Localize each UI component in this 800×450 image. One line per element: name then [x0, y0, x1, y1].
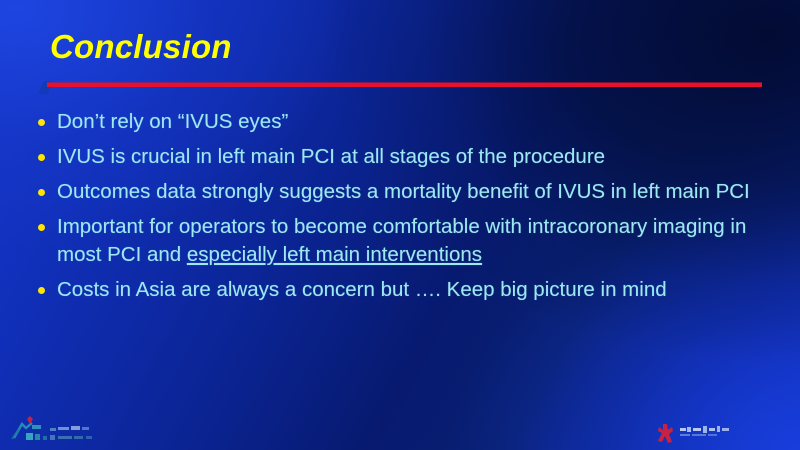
title-divider-rule	[38, 78, 762, 94]
bullet-point-icon	[38, 143, 57, 161]
bullet-point-icon	[38, 213, 57, 231]
list-item: Don’t rely on “IVUS eyes”	[38, 108, 768, 136]
emphasis-underlined-text: especially left main interventions	[187, 243, 482, 266]
list-item: Important for operators to become comfor…	[38, 213, 768, 269]
bullet-text: Important for operators to become comfor…	[57, 213, 768, 269]
institution-logo	[6, 412, 126, 446]
bullet-text: Costs in Asia are always a concern but ……	[57, 276, 768, 304]
bullet-point-icon	[38, 108, 57, 126]
slide-canvas: Conclusion Don’t rely on “IVUS eyes” IVU…	[0, 0, 800, 450]
list-item: IVUS is crucial in left main PCI at all …	[38, 143, 768, 171]
page-title: Conclusion	[50, 28, 232, 66]
bullet-list: Don’t rely on “IVUS eyes” IVUS is crucia…	[38, 108, 768, 311]
list-item: Outcomes data strongly suggests a mortal…	[38, 178, 768, 206]
bullet-text: IVUS is crucial in left main PCI at all …	[57, 143, 768, 171]
list-item: Costs in Asia are always a concern but ……	[38, 276, 768, 304]
bullet-point-icon	[38, 178, 57, 196]
bullet-text: Outcomes data strongly suggests a mortal…	[57, 178, 768, 206]
bullet-point-icon	[38, 276, 57, 294]
sponsor-logo	[656, 420, 748, 446]
bullet-text: Don’t rely on “IVUS eyes”	[57, 108, 768, 136]
